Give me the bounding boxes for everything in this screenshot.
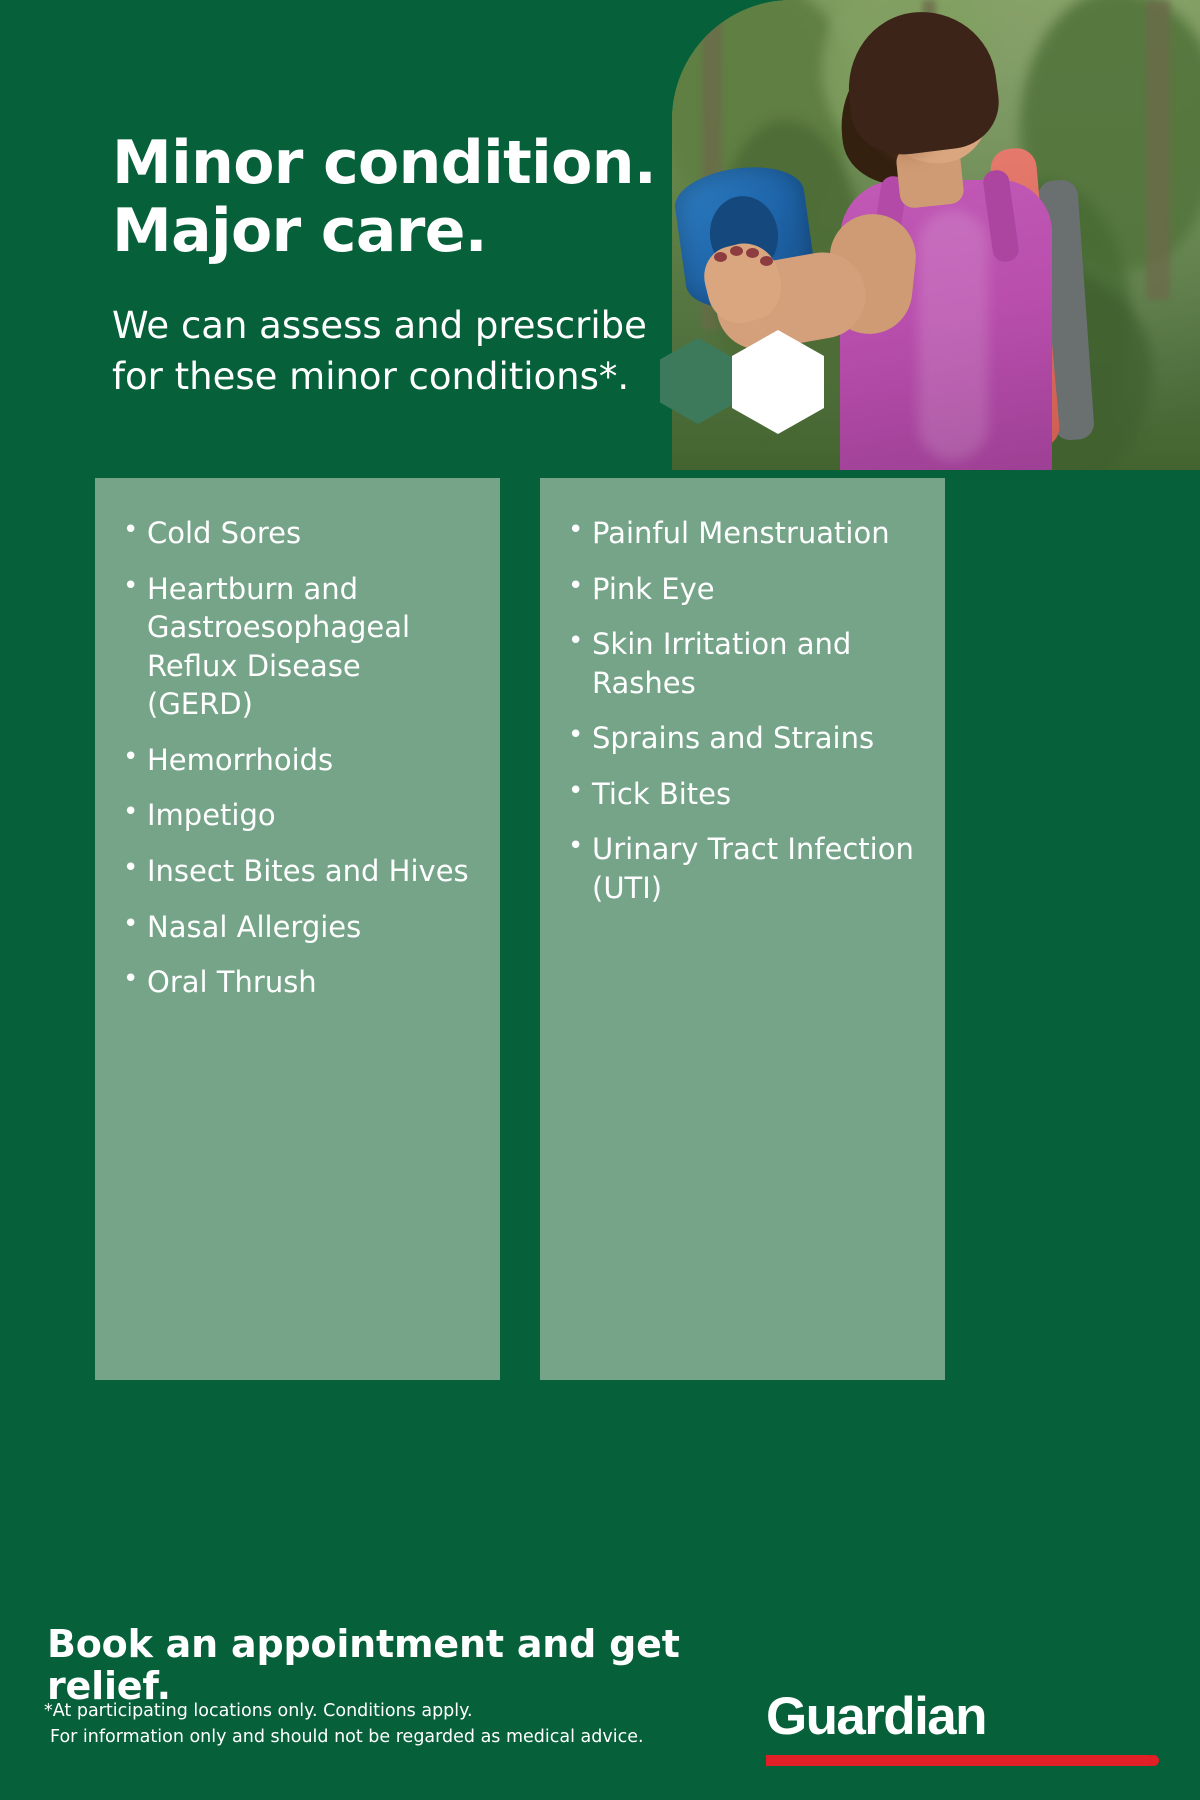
headline-line-2: Major care.	[112, 198, 672, 266]
subheading-line-2: for these minor conditions*.	[112, 355, 629, 398]
poster-canvas: Minor condition. Major care. We can asse…	[0, 0, 1200, 1800]
fingernail	[760, 256, 773, 266]
list-item: Insect Bites and Hives	[121, 852, 474, 891]
subheading: We can assess and prescribe for these mi…	[112, 300, 672, 402]
call-to-action: Book an appointment and get relief.	[47, 1624, 807, 1708]
fingernail	[730, 246, 743, 256]
list-item: Tick Bites	[566, 775, 919, 814]
conditions-list-left: Cold Sores Heartburn and Gastroesophagea…	[95, 478, 500, 1002]
disclaimer: *At participating locations only. Condit…	[44, 1698, 684, 1751]
list-item: Oral Thrush	[121, 963, 474, 1002]
list-item: Urinary Tract Infection (UTI)	[566, 830, 919, 907]
list-item: Impetigo	[121, 796, 474, 835]
torso-highlight	[918, 210, 988, 460]
guardian-logo: Guardian	[766, 1690, 1158, 1774]
list-item: Heartburn and Gastroesophageal Reflux Di…	[121, 570, 474, 724]
list-item: Hemorrhoids	[121, 741, 474, 780]
list-item: Skin Irritation and Rashes	[566, 625, 919, 702]
conditions-list-right: Painful Menstruation Pink Eye Skin Irrit…	[540, 478, 945, 908]
conditions-panel-right: Painful Menstruation Pink Eye Skin Irrit…	[540, 478, 945, 1380]
logo-red-dot	[1148, 1755, 1159, 1766]
logo-red-rule	[766, 1755, 1151, 1766]
tree-trunk	[1146, 0, 1170, 300]
disclaimer-line-2: For information only and should not be r…	[44, 1724, 684, 1750]
disclaimer-line-1: *At participating locations only. Condit…	[44, 1701, 473, 1721]
hexagon-accent-white	[732, 330, 824, 434]
headline-line-1: Minor condition.	[112, 128, 656, 198]
list-item: Cold Sores	[121, 514, 474, 553]
subheading-line-1: We can assess and prescribe	[112, 304, 647, 347]
list-item: Nasal Allergies	[121, 908, 474, 947]
conditions-panel-left: Cold Sores Heartburn and Gastroesophagea…	[95, 478, 500, 1380]
list-item: Painful Menstruation	[566, 514, 919, 553]
list-item: Sprains and Strains	[566, 719, 919, 758]
guardian-wordmark: Guardian	[766, 1690, 1158, 1743]
page-title: Minor condition. Major care.	[112, 130, 672, 266]
fingernail	[714, 252, 727, 262]
list-item: Pink Eye	[566, 570, 919, 609]
fingernail	[746, 248, 759, 258]
